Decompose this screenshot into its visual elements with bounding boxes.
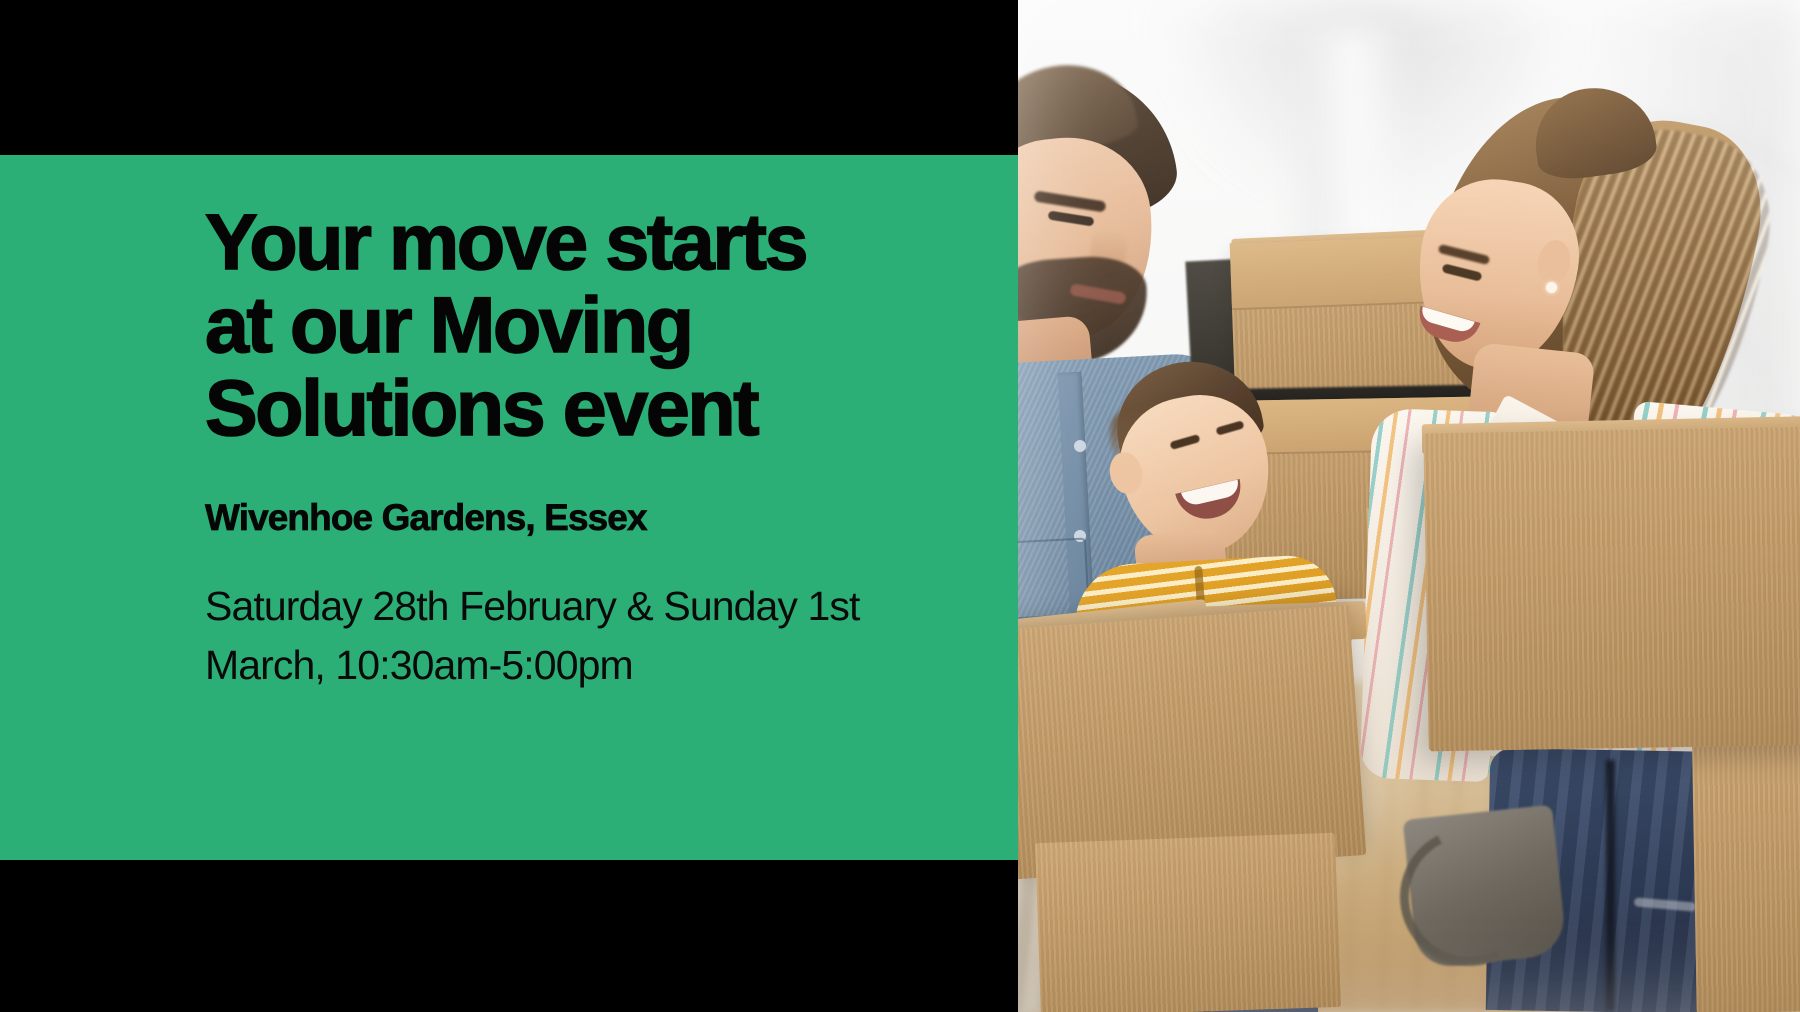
cardboard-box-carried-by-mother xyxy=(1423,427,1800,752)
father-shirt-button xyxy=(1074,440,1086,452)
page-title: Your move starts at our Moving Solutions… xyxy=(205,200,995,449)
moving-family-photo xyxy=(1018,0,1800,1012)
copy-block: Your move starts at our Moving Solutions… xyxy=(205,200,995,695)
mother-jeans-leg-gap xyxy=(1606,760,1615,1012)
cardboard-box-foreground-low xyxy=(1035,833,1341,1012)
event-dates-label: Saturday 28th February & Sunday 1st Marc… xyxy=(205,577,995,695)
banner-stage: Your move starts at our Moving Solutions… xyxy=(0,0,1800,1012)
green-copy-panel: Your move starts at our Moving Solutions… xyxy=(0,155,1018,860)
mother-earring xyxy=(1546,282,1557,293)
venue-label: Wivenhoe Gardens, Essex xyxy=(205,496,995,540)
